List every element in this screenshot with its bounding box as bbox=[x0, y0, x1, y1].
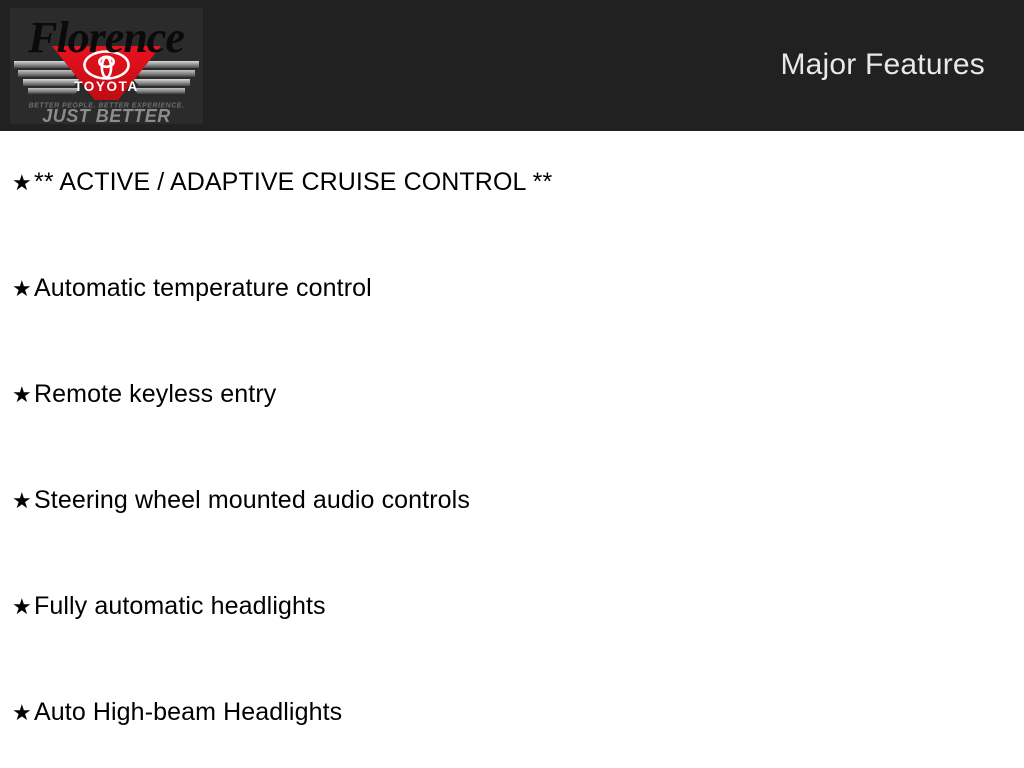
list-item: ★ Automatic temperature control bbox=[12, 273, 372, 303]
star-bullet-icon: ★ bbox=[12, 490, 34, 512]
feature-label: Remote keyless entry bbox=[34, 379, 276, 409]
feature-label: Auto High-beam Headlights bbox=[34, 697, 342, 727]
star-bullet-icon: ★ bbox=[12, 596, 34, 618]
logo-dealer-name: Florence bbox=[27, 13, 184, 62]
logo-brand-name: TOYOTA bbox=[74, 79, 139, 94]
dealer-logo: TOYOTA Florence BETTER PEOPLE. BETTER EX… bbox=[10, 8, 203, 124]
slide-root: TOYOTA Florence BETTER PEOPLE. BETTER EX… bbox=[0, 0, 1024, 768]
feature-label: ** ACTIVE / ADAPTIVE CRUISE CONTROL ** bbox=[34, 167, 552, 197]
list-item: ★ Steering wheel mounted audio controls bbox=[12, 485, 470, 515]
star-bullet-icon: ★ bbox=[12, 384, 34, 406]
list-item: ★ Remote keyless entry bbox=[12, 379, 276, 409]
logo-slogan: JUST BETTER bbox=[42, 106, 171, 124]
list-item: ★ ** ACTIVE / ADAPTIVE CRUISE CONTROL ** bbox=[12, 167, 552, 197]
feature-label: Automatic temperature control bbox=[34, 273, 372, 303]
star-bullet-icon: ★ bbox=[12, 172, 34, 194]
slide-header: TOYOTA Florence BETTER PEOPLE. BETTER EX… bbox=[0, 0, 1024, 131]
feature-label: Steering wheel mounted audio controls bbox=[34, 485, 470, 515]
list-item: ★ Fully automatic headlights bbox=[12, 591, 326, 621]
star-bullet-icon: ★ bbox=[12, 702, 34, 724]
page-title: Major Features bbox=[780, 47, 985, 83]
florence-toyota-logo-icon: TOYOTA Florence BETTER PEOPLE. BETTER EX… bbox=[10, 8, 203, 124]
list-item: ★ Auto High-beam Headlights bbox=[12, 697, 342, 727]
features-list: ★ ** ACTIVE / ADAPTIVE CRUISE CONTROL **… bbox=[0, 131, 1024, 768]
feature-label: Fully automatic headlights bbox=[34, 591, 326, 621]
star-bullet-icon: ★ bbox=[12, 278, 34, 300]
